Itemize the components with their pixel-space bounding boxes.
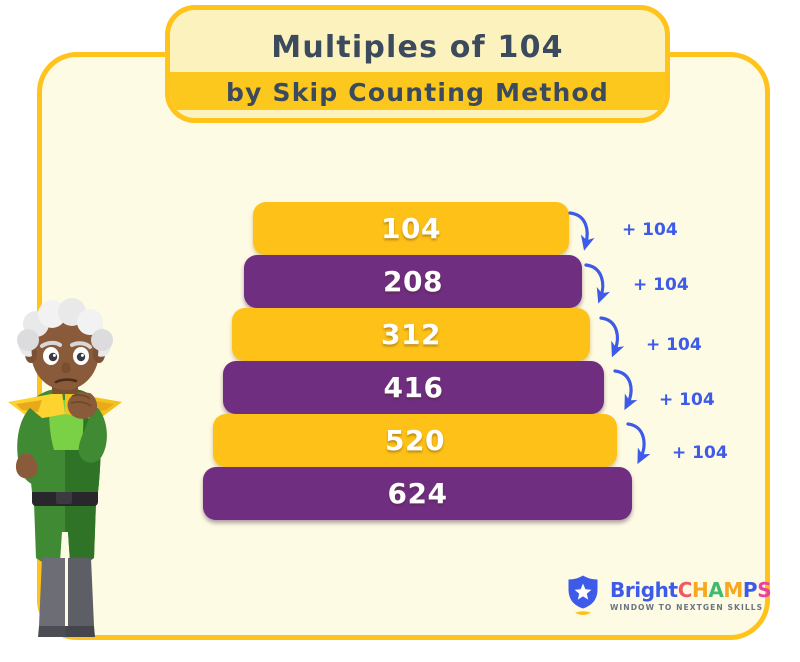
brand-wordmark: BrightCHAMPS	[610, 580, 771, 600]
step-arrow	[586, 265, 603, 296]
brand-letter-c: C	[678, 578, 692, 602]
step-arrow	[615, 371, 631, 403]
brand-word-bright: Bright	[610, 578, 678, 602]
multiple-bar: 104	[253, 202, 569, 255]
page-subtitle: by Skip Counting Method	[170, 78, 665, 107]
multiple-bar: 312	[232, 308, 590, 361]
step-arrow	[628, 424, 644, 457]
step-arrow	[570, 213, 587, 243]
brightchamps-logo: BrightCHAMPS WINDOW TO NEXTGEN SKILLS	[565, 574, 771, 618]
step-arrows-group	[540, 195, 660, 525]
step-increment-label: + 104	[633, 275, 689, 295]
shield-star-icon	[565, 574, 601, 618]
brand-letter-s: S	[757, 578, 771, 602]
brand-tagline: WINDOW TO NEXTGEN SKILLS	[610, 603, 771, 612]
brand-letter-m: M	[723, 578, 743, 602]
page-title: Multiples of 104	[170, 30, 665, 65]
step-increment-label: + 104	[646, 335, 702, 355]
brand-letter-a: A	[708, 578, 723, 602]
step-increment-label: + 104	[659, 390, 715, 410]
step-arrow	[601, 318, 617, 350]
step-increment-label: + 104	[672, 443, 728, 463]
step-increment-label: + 104	[622, 220, 678, 240]
thinking-character-illustration	[2, 296, 128, 644]
brand-text-block: BrightCHAMPS WINDOW TO NEXTGEN SKILLS	[610, 580, 771, 612]
multiple-bar: 208	[244, 255, 582, 308]
title-banner: Multiples of 104 by Skip Counting Method	[165, 5, 670, 123]
brand-letter-p: P	[743, 578, 757, 602]
brand-letter-h: H	[692, 578, 708, 602]
